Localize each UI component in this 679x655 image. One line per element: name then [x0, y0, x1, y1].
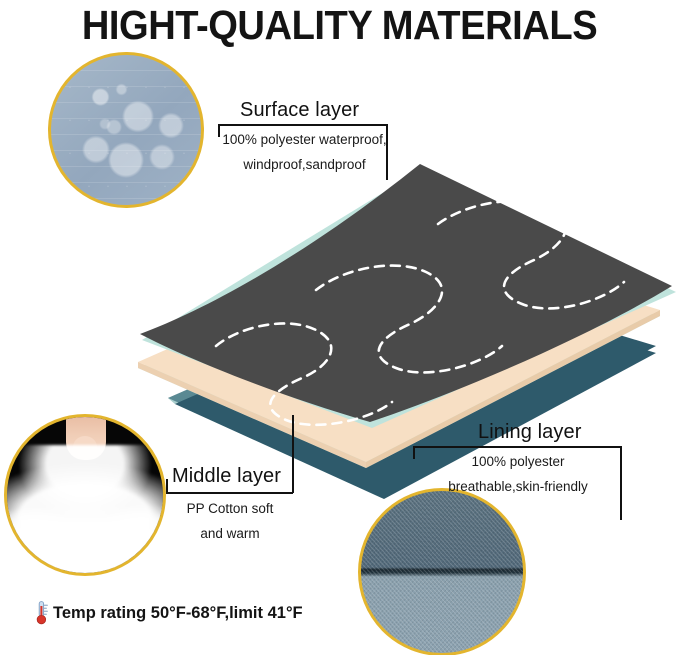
- callout-body-lining: 100% polyester breathable,skin-friendly: [416, 450, 620, 500]
- callout-title-surface: Surface layer: [240, 99, 359, 122]
- surface-bracket-left: [218, 124, 220, 137]
- thermometer-icon: [34, 600, 50, 626]
- infographic-page: HIGHT-QUALITY MATERIALS: [0, 0, 679, 655]
- weave-texture: [361, 491, 523, 653]
- callout-body-surface: 100% polyester waterproof, windproof,san…: [222, 128, 387, 178]
- page-title: HIGHT-QUALITY MATERIALS: [24, 2, 655, 49]
- callout-body-middle: PP Cotton soft and warm: [166, 497, 294, 547]
- callout-line: 100% polyester waterproof,: [222, 128, 387, 153]
- temp-rating-text: Temp rating 50°F-68°F,limit 41°F: [53, 604, 303, 623]
- callout-title-middle: Middle layer: [172, 465, 281, 488]
- middle-pointer-line: [292, 415, 294, 493]
- lining-pointer-line: [620, 446, 622, 520]
- callout-title-lining: Lining layer: [478, 421, 582, 444]
- callout-line: and warm: [166, 522, 294, 547]
- callout-line: windproof,sandproof: [222, 153, 387, 178]
- surface-bracket-top: [218, 124, 388, 126]
- callout-line: breathable,skin-friendly: [416, 475, 620, 500]
- lining-bracket-top: [413, 446, 622, 448]
- middle-bracket-left: [166, 479, 168, 493]
- callout-line: PP Cotton soft: [166, 497, 294, 522]
- temp-rating-row: Temp rating 50°F-68°F,limit 41°F: [34, 600, 303, 626]
- lining-fabric-icon: [358, 488, 526, 655]
- middle-bracket-bottom: [166, 492, 293, 494]
- lining-bracket-left: [413, 446, 415, 459]
- callout-line: 100% polyester: [416, 450, 620, 475]
